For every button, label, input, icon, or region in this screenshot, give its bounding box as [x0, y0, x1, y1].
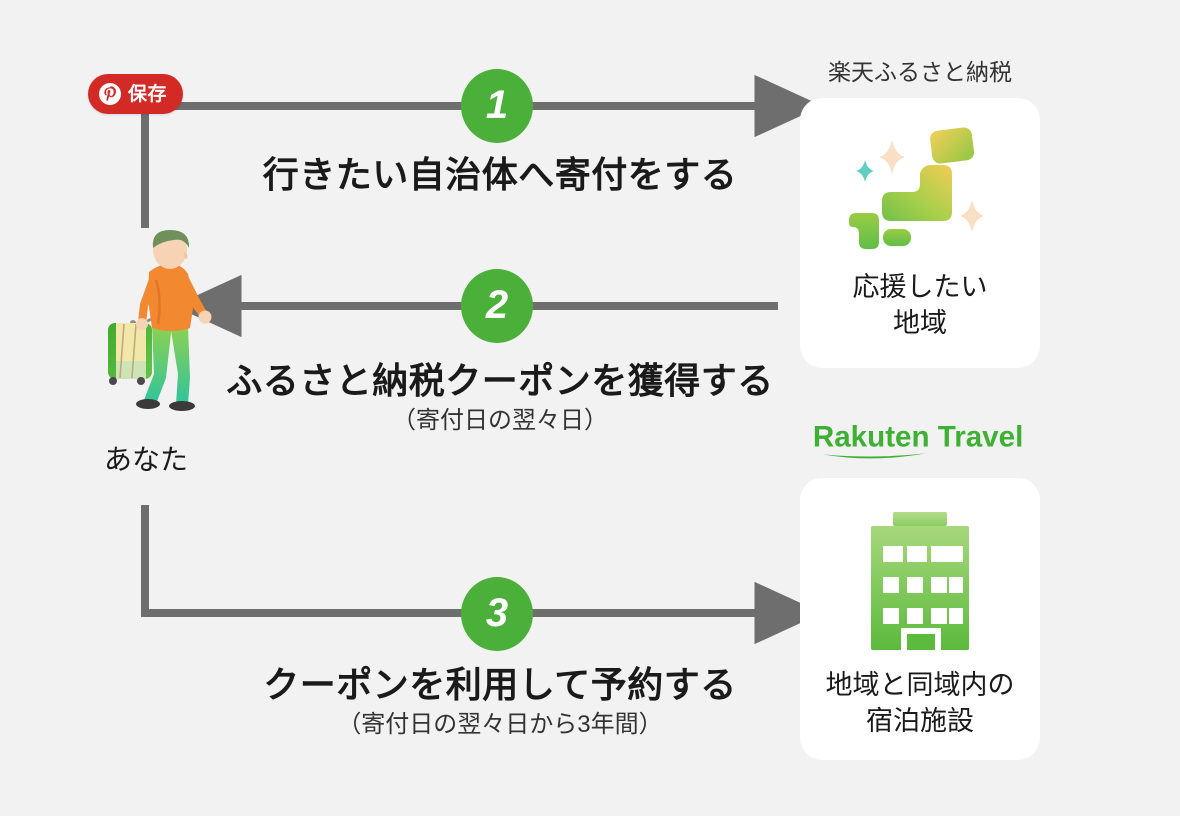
- actor-label: あなた: [86, 438, 206, 478]
- sparkle-right: [960, 200, 984, 232]
- card-region-caption-line1: 応援したい: [853, 270, 988, 306]
- step-1-title: 行きたい自治体へ寄付をする: [155, 152, 845, 197]
- hotel-building-icon: [845, 504, 995, 662]
- sparkle-large: [879, 140, 905, 174]
- pinterest-save-button[interactable]: 保存: [88, 74, 183, 114]
- step-caption-3: クーポンを利用して予約する （寄付日の翌々日から3年間）: [155, 662, 845, 740]
- japan-map-sparkle-icon: [835, 116, 1005, 266]
- step-3-title: クーポンを利用して予約する: [155, 662, 845, 707]
- step-2-title: ふるさと納税クーポンを獲得する: [135, 358, 865, 403]
- step-badge-3: 3: [461, 577, 533, 651]
- card-region-caption-line2: 地域: [853, 306, 988, 342]
- card-hotel-caption-line1: 地域と同域内の: [826, 668, 1015, 704]
- card-hotel-caption: 地域と同域内の 宿泊施設: [826, 668, 1015, 739]
- arrow-step-3: [145, 505, 764, 613]
- step-3-note: （寄付日の翌々日から3年間）: [155, 709, 845, 740]
- card-region-caption: 応援したい 地域: [853, 270, 988, 341]
- traveller-with-suitcase-icon: [96, 228, 236, 428]
- pinterest-save-label: 保存: [128, 85, 167, 104]
- step-badge-1: 1: [461, 69, 533, 143]
- pinterest-icon: [99, 83, 121, 105]
- sparkle-teal: [856, 160, 874, 182]
- card-region[interactable]: 応援したい 地域: [800, 98, 1040, 368]
- infographic-canvas: 保存 1 2 3 行きたい自治体へ寄付をする ふるさと納税クーポンを獲得する （…: [0, 0, 1180, 816]
- step-2-note: （寄付日の翌々日）: [135, 405, 865, 436]
- step-caption-1: 行きたい自治体へ寄付をする: [155, 152, 845, 197]
- step-caption-2: ふるさと納税クーポンを獲得する （寄付日の翌々日）: [135, 358, 865, 436]
- step-badge-2: 2: [461, 269, 533, 343]
- card-hotel-caption-line2: 宿泊施設: [826, 704, 1015, 740]
- brand-title-furusato: 楽天ふるさと納税: [800, 53, 1040, 87]
